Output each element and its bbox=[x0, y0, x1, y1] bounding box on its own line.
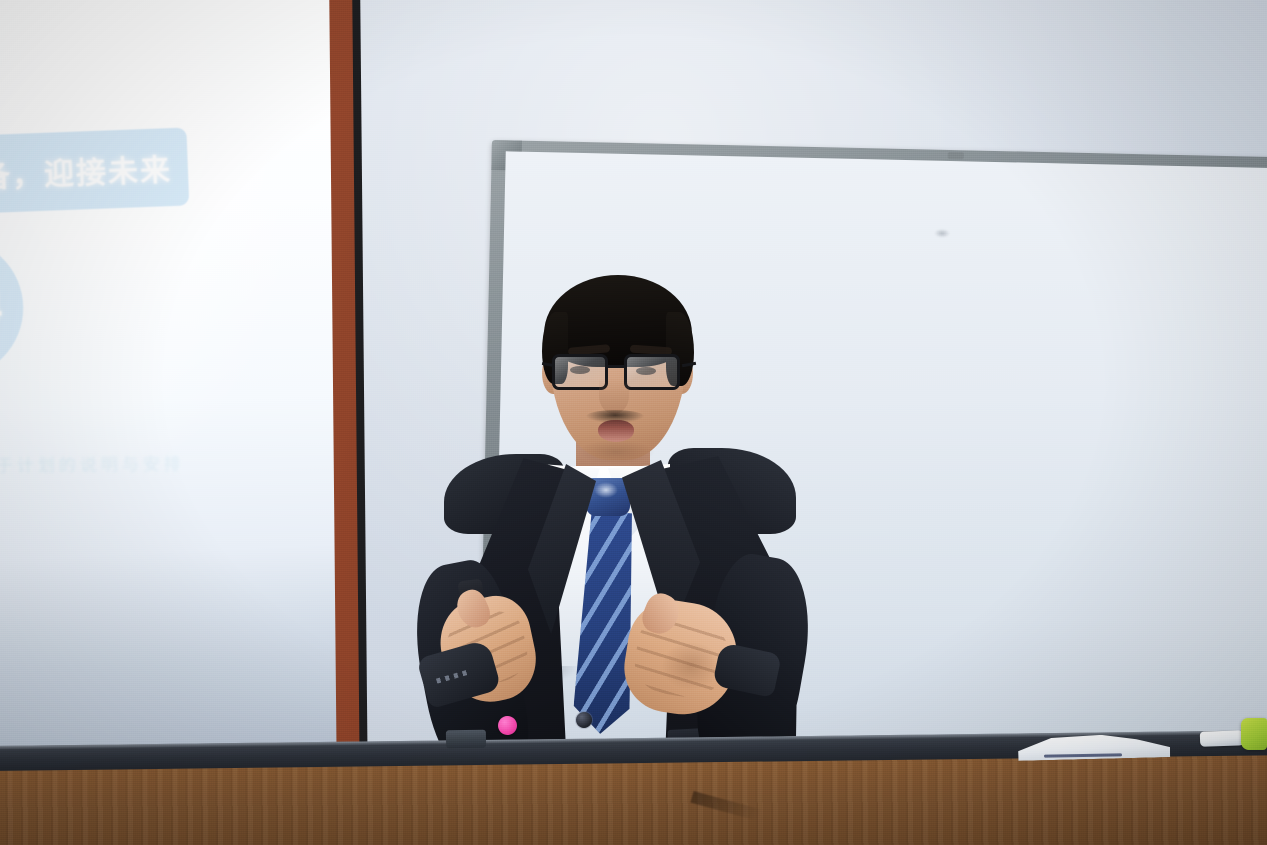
projector-glow bbox=[0, 0, 334, 488]
desk-dark-object[interactable] bbox=[446, 730, 486, 749]
glasses-lens-right bbox=[624, 354, 680, 390]
presenter-palm-shadow-right bbox=[662, 642, 720, 690]
slide-footer-text: 关于计划的说明与安排 bbox=[0, 450, 215, 486]
pink-marker[interactable] bbox=[498, 716, 517, 735]
green-marker[interactable] bbox=[1241, 718, 1267, 750]
slide-banner: 准备，迎接未来 bbox=[0, 127, 189, 219]
whiteboard-mount-screw bbox=[948, 152, 964, 159]
projection-screen[interactable]: 准备，迎接未来 24 关于计划的说明与安排 bbox=[0, 0, 337, 755]
presenter-jacket-button bbox=[576, 712, 592, 728]
presenter-tie-knot-highlight bbox=[594, 482, 618, 498]
slide-year-badge-text: 24 bbox=[0, 283, 3, 333]
whiteboard-eraser[interactable] bbox=[1200, 730, 1246, 747]
presenter-chin-shadow bbox=[578, 440, 654, 464]
podium-desk-front bbox=[0, 755, 1267, 845]
glasses-bridge bbox=[608, 365, 626, 368]
slide-banner-text: 准备，迎接未来 bbox=[0, 145, 173, 197]
photo-scene: 准备，迎接未来 24 关于计划的说明与安排 bbox=[0, 0, 1267, 845]
whiteboard-smudge-upper bbox=[934, 229, 950, 238]
presenter-mouth bbox=[598, 420, 634, 442]
presenter-nose bbox=[599, 378, 629, 414]
podium-wood-grain bbox=[0, 755, 1267, 845]
